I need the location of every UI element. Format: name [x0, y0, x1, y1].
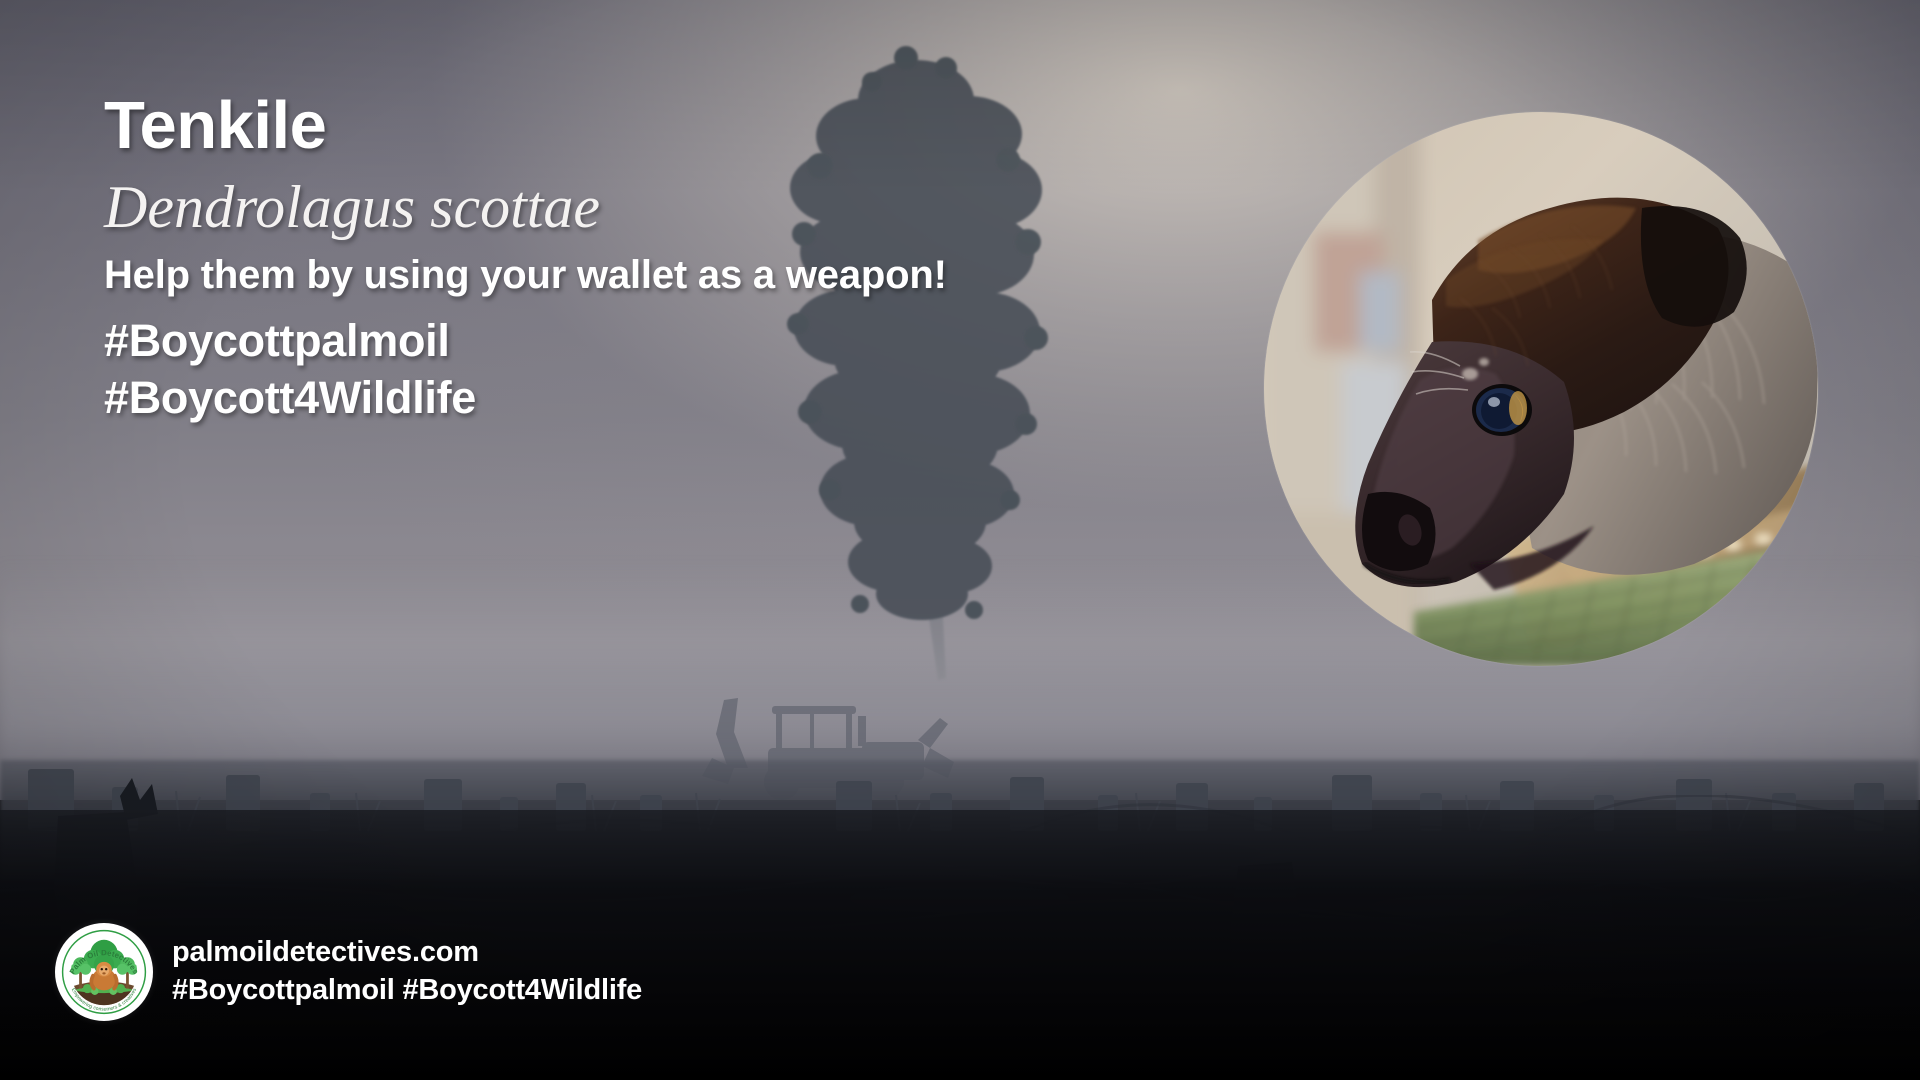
palm-oil-detectives-logo-icon: Palm Oil Detectives Empowering consumers… [58, 926, 150, 1018]
animal-portrait-image [1264, 112, 1818, 666]
brand-website[interactable]: palmoildetectives.com [172, 934, 642, 972]
species-scientific-name: Dendrolagus scottae [104, 177, 1064, 237]
hashtag-boycottpalmoil: #Boycottpalmoil [104, 312, 1064, 370]
brand-footer: Palm Oil Detectives Empowering consumers… [58, 926, 642, 1018]
call-to-action-tagline: Help them by using your wallet as a weap… [104, 253, 1064, 298]
poster-canvas: Tenkile Dendrolagus scottae Help them by… [0, 0, 1920, 1080]
headline-block: Tenkile Dendrolagus scottae Help them by… [104, 92, 1064, 427]
hashtag-boycott4wildlife: #Boycott4Wildlife [104, 369, 1064, 427]
species-common-name: Tenkile [104, 92, 1064, 159]
brand-text-block: palmoildetectives.com #Boycottpalmoil #B… [172, 934, 642, 1009]
brand-hashtags: #Boycottpalmoil #Boycott4Wildlife [172, 972, 642, 1010]
